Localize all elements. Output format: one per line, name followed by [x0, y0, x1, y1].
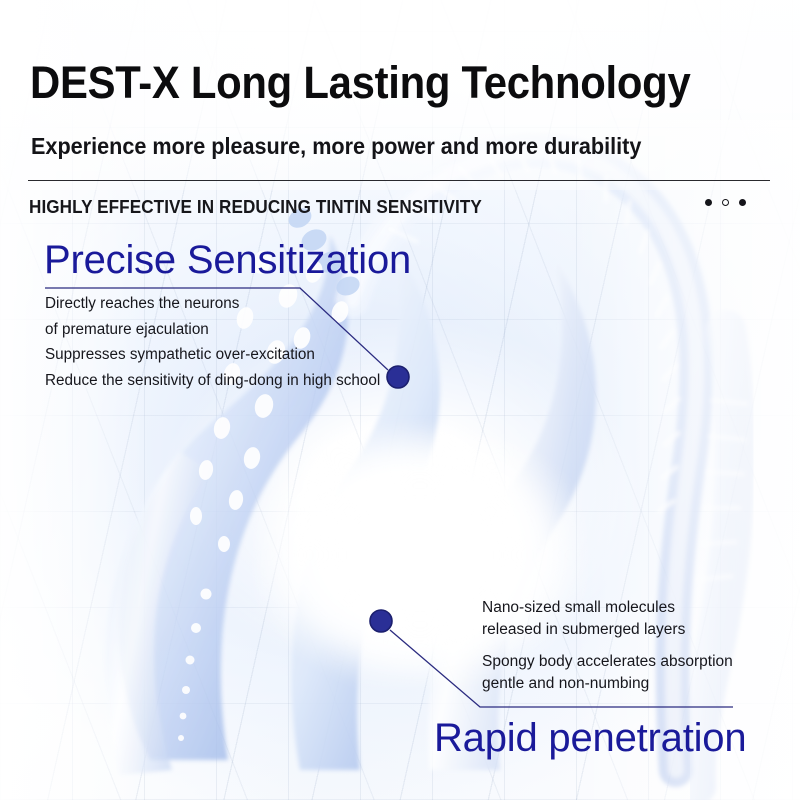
kicker-text: HIGHLY EFFECTIVE IN REDUCING TINTIN SENS… — [29, 195, 482, 219]
feature-line: released in submerged layers — [482, 619, 685, 641]
pagination-dots[interactable] — [705, 199, 746, 206]
header-divider — [28, 180, 770, 181]
poster-canvas: DEST-X Long Lasting Technology Experienc… — [0, 0, 800, 800]
feature-line: gentle and non-numbing — [482, 673, 733, 695]
section-body-spongy: Spongy body accelerates absorption gentl… — [482, 651, 733, 695]
feature-line: Spongy body accelerates absorption — [482, 651, 733, 673]
poster-content: DEST-X Long Lasting Technology Experienc… — [0, 0, 800, 800]
section-heading-precise: Precise Sensitization — [44, 236, 411, 284]
page-title: DEST-X Long Lasting Technology — [30, 57, 690, 109]
section-body-precise: Directly reaches the neurons of prematur… — [45, 291, 380, 393]
feature-line: of premature ejaculation — [45, 317, 380, 343]
feature-line: Suppresses sympathetic over-excitation — [45, 342, 380, 368]
feature-line: Directly reaches the neurons — [45, 291, 380, 317]
feature-line: Reduce the sensitivity of ding-dong in h… — [45, 368, 380, 394]
page-subtitle: Experience more pleasure, more power and… — [31, 131, 641, 161]
section-heading-rapid: Rapid penetration — [434, 714, 746, 762]
section-body-nano: Nano-sized small molecules released in s… — [482, 597, 685, 641]
feature-line: Nano-sized small molecules — [482, 597, 685, 619]
pagination-dot-1[interactable] — [705, 199, 712, 206]
pagination-dot-2[interactable] — [722, 199, 729, 206]
pagination-dot-3[interactable] — [739, 199, 746, 206]
